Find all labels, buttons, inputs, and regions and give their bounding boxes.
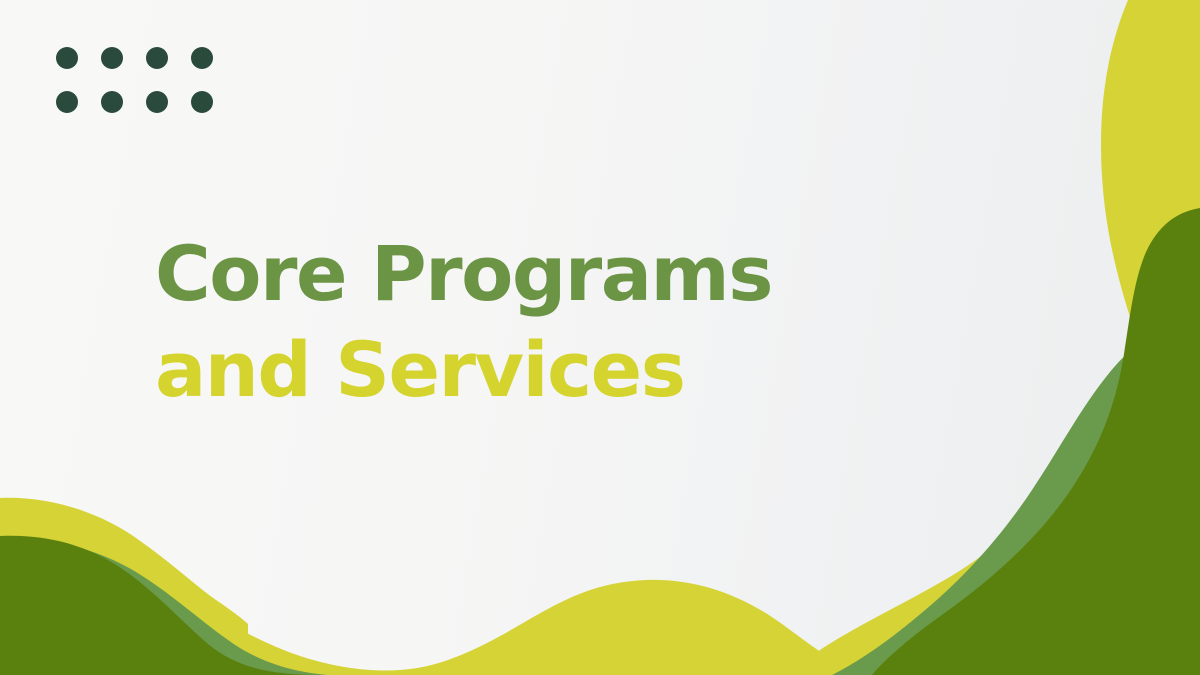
dot-icon [146, 91, 168, 113]
dot-grid-decoration [56, 47, 213, 113]
slide-canvas: Core Programs and Services [0, 0, 1200, 675]
dot-icon [191, 91, 213, 113]
dot-icon [146, 47, 168, 69]
dot-icon [56, 47, 78, 69]
dot-icon [191, 47, 213, 69]
dot-icon [56, 91, 78, 113]
slide-title-line-2: and Services [155, 322, 772, 418]
slide-title-line-1: Core Programs [155, 226, 772, 322]
dot-icon [101, 47, 123, 69]
slide-title: Core Programs and Services [155, 226, 772, 418]
dot-icon [101, 91, 123, 113]
